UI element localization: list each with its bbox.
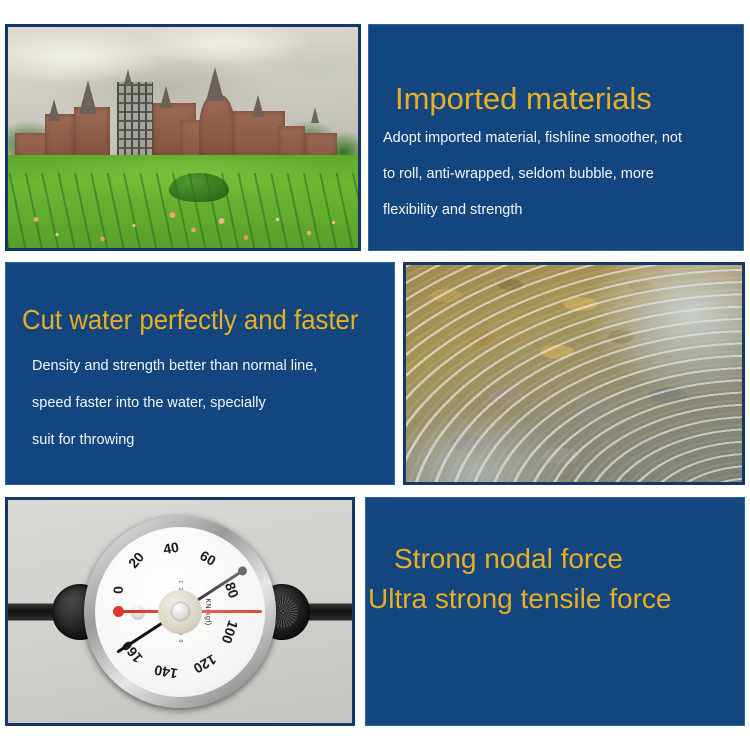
imported-materials-body-line-3: flexibility and strength [383, 202, 743, 218]
rose-bed [8, 173, 358, 248]
gauge-needle-hub [158, 590, 202, 634]
imported-materials-body-line-2: to roll, anti-wrapped, seldom bubble, mo… [383, 166, 743, 182]
castle-photo-inner [8, 27, 358, 248]
cut-water-body-line-2: speed faster into the water, specially [32, 395, 394, 411]
product-infographic-poster: Imported materials Adopt imported materi… [0, 0, 750, 750]
imported-materials-body-line-1: Adopt imported material, fishline smooth… [383, 130, 743, 146]
gauge-photo-inner: 0 20 40 60 80 100 [8, 500, 352, 723]
section-strong-nodal-force: Strong nodal force Ultra strong tensile … [365, 497, 745, 726]
section-cut-water: Cut water perfectly and faster Density a… [5, 262, 395, 485]
section-imported-materials: Imported materials Adopt imported materi… [368, 24, 744, 251]
cut-water-body-line-1: Density and strength better than normal … [32, 358, 394, 374]
imported-materials-headline: Imported materials [395, 83, 743, 116]
cut-water-headline: Cut water perfectly and faster [22, 305, 364, 334]
gauge-dial-bezel: 0 20 40 60 80 100 [84, 516, 276, 708]
castle-photo [5, 24, 361, 251]
water-sheen [406, 265, 742, 482]
cut-water-body-line-3: suit for throwing [32, 432, 394, 448]
gauge-dial-face: 0 20 40 60 80 100 [95, 527, 265, 697]
strong-nodal-force-headline-line-1: Strong nodal force [394, 544, 744, 573]
tension-gauge-photo: 0 20 40 60 80 100 [5, 497, 355, 726]
water-photo-inner [406, 265, 742, 482]
strong-nodal-force-headline-line-2: Ultra strong tensile force [368, 584, 744, 613]
water-pebbles-photo [403, 262, 745, 485]
